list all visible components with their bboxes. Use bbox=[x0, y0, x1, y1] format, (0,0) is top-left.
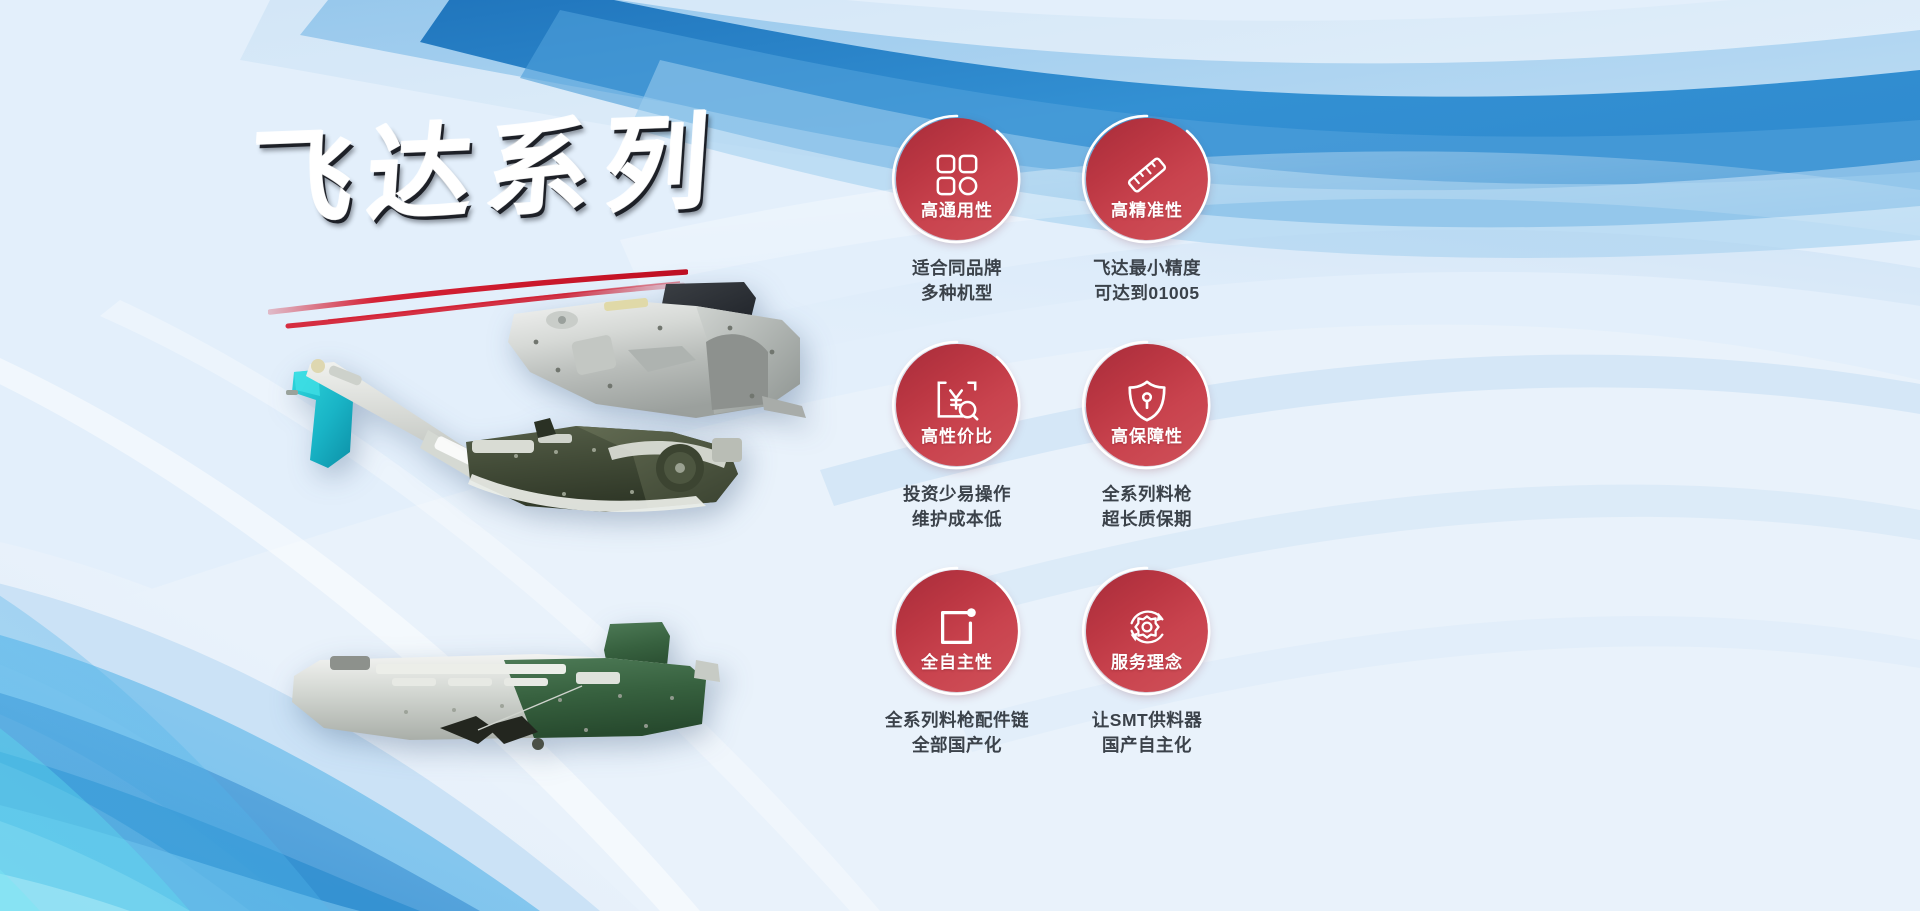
feature-badge-4[interactable]: 全自主性 bbox=[896, 570, 1018, 692]
feature-caption-3: 全系列料枪 超长质保期 bbox=[1052, 482, 1242, 533]
feature-caption-2-line-0: 投资少易操作 bbox=[862, 482, 1052, 507]
feature-label-3: 高保障性 bbox=[1111, 428, 1183, 445]
feature-item-5[interactable]: 服务理念 让SMT供料器 国产自主化 bbox=[1052, 570, 1242, 759]
feature-caption-0: 适合同品牌 多种机型 bbox=[862, 256, 1052, 307]
feature-label-1: 高精准性 bbox=[1111, 202, 1183, 219]
four-squares-icon bbox=[934, 152, 980, 198]
feature-grid: 高通用性 适合同品牌 多种机型 bbox=[862, 118, 1282, 798]
feature-caption-1-line-1: 可达到01005 bbox=[1052, 281, 1242, 306]
feature-item-0[interactable]: 高通用性 适合同品牌 多种机型 bbox=[862, 118, 1052, 307]
feature-item-3[interactable]: 高保障性 全系列料枪 超长质保期 bbox=[1052, 344, 1242, 533]
feature-caption-0-line-0: 适合同品牌 bbox=[862, 256, 1052, 281]
feature-caption-5-line-1: 国产自主化 bbox=[1052, 733, 1242, 758]
feature-badge-5[interactable]: 服务理念 bbox=[1086, 570, 1208, 692]
feature-label-5: 服务理念 bbox=[1111, 654, 1183, 671]
feature-caption-4-line-1: 全部国产化 bbox=[862, 733, 1052, 758]
product-photo-long-silver-green-feeder bbox=[290, 620, 720, 760]
feature-label-0: 高通用性 bbox=[921, 202, 993, 219]
page-title: 飞达系列 bbox=[246, 108, 775, 232]
corner-bracket-dot-icon bbox=[934, 604, 980, 650]
feature-caption-4: 全系列料枪配件链 全部国产化 bbox=[862, 708, 1052, 759]
banner-canvas: 飞达系列 bbox=[0, 0, 1920, 911]
feature-item-2[interactable]: 高性价比 投资少易操作 维护成本低 bbox=[862, 344, 1052, 533]
feature-item-1[interactable]: 高精准性 飞达最小精度 可达到01005 bbox=[1052, 118, 1242, 307]
feature-badge-3[interactable]: 高保障性 bbox=[1086, 344, 1208, 466]
yuan-price-search-icon bbox=[934, 378, 980, 424]
feature-caption-4-line-0: 全系列料枪配件链 bbox=[862, 708, 1052, 733]
shield-lock-icon bbox=[1124, 378, 1170, 424]
feature-label-4: 全自主性 bbox=[921, 654, 993, 671]
feature-caption-5: 让SMT供料器 国产自主化 bbox=[1052, 708, 1242, 759]
feature-badge-2[interactable]: 高性价比 bbox=[896, 344, 1018, 466]
feature-item-4[interactable]: 全自主性 全系列料枪配件链 全部国产化 bbox=[862, 570, 1052, 759]
feature-label-2: 高性价比 bbox=[921, 428, 993, 445]
feature-caption-3-line-0: 全系列料枪 bbox=[1052, 482, 1242, 507]
feature-badge-1[interactable]: 高精准性 bbox=[1086, 118, 1208, 240]
feature-caption-5-line-0: 让SMT供料器 bbox=[1052, 708, 1242, 733]
feature-caption-1: 飞达最小精度 可达到01005 bbox=[1052, 256, 1242, 307]
feature-badge-0[interactable]: 高通用性 bbox=[896, 118, 1018, 240]
feature-caption-0-line-1: 多种机型 bbox=[862, 281, 1052, 306]
ruler-icon bbox=[1124, 152, 1170, 198]
feature-caption-1-line-0: 飞达最小精度 bbox=[1052, 256, 1242, 281]
gear-refresh-icon bbox=[1124, 604, 1170, 650]
product-photo-green-feeder-with-teal-reel-arm bbox=[276, 356, 746, 526]
feature-caption-2-line-1: 维护成本低 bbox=[862, 507, 1052, 532]
feature-caption-3-line-1: 超长质保期 bbox=[1052, 507, 1242, 532]
feature-caption-2: 投资少易操作 维护成本低 bbox=[862, 482, 1052, 533]
